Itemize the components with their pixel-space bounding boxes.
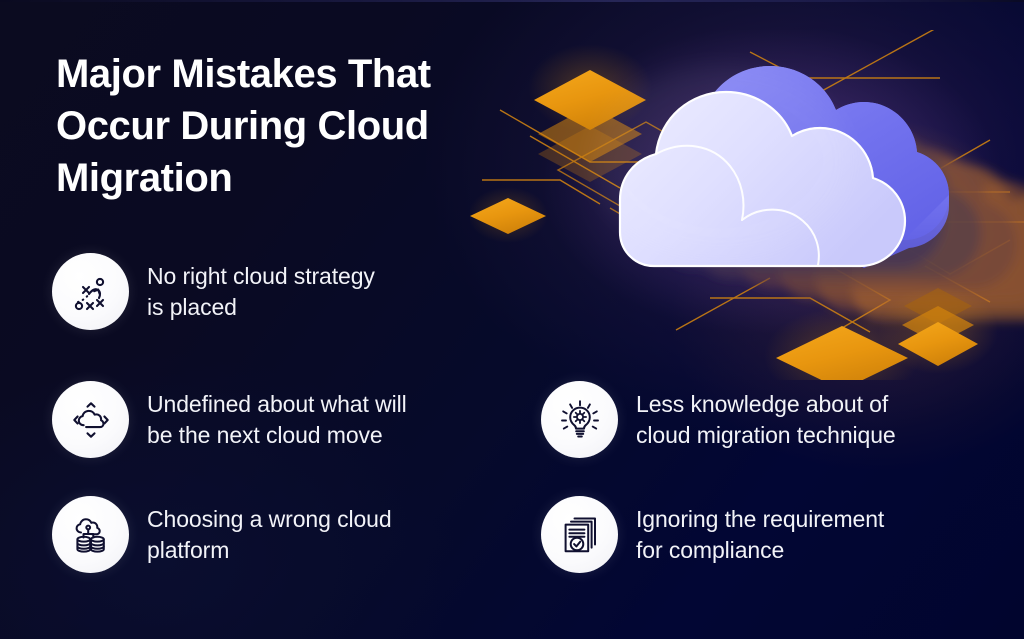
document-check-compliance-icon — [541, 496, 618, 573]
list-item-ignoring-compliance-requirement: Ignoring the requirement for compliance — [541, 496, 884, 573]
node-bottom-center — [764, 308, 920, 380]
list-item-no-right-cloud-strategy: No right cloud strategy is placed — [52, 253, 375, 330]
cloud-move-arrows-icon — [52, 381, 129, 458]
node-top-left — [528, 44, 652, 182]
page-title: Major Mistakes That Occur During Cloud M… — [56, 48, 516, 204]
strategy-playbook-icon — [52, 253, 129, 330]
page-title-line-2: Occur During Cloud — [56, 100, 516, 152]
list-item-label: Ignoring the requirement for compliance — [636, 504, 884, 566]
cloud-database-icon — [52, 496, 129, 573]
node-bottom-right — [878, 286, 998, 374]
list-item-choosing-wrong-cloud-platform: Choosing a wrong cloud platform — [52, 496, 392, 573]
infographic-canvas: Major Mistakes That Occur During Cloud M… — [0, 0, 1024, 639]
top-edge-highlight — [0, 0, 1024, 2]
list-item-label: Undefined about what will be the next cl… — [147, 389, 407, 451]
list-item-label: Choosing a wrong cloud platform — [147, 504, 392, 566]
list-item-label: Less knowledge about of cloud migration … — [636, 389, 896, 451]
page-title-line-1: Major Mistakes That — [56, 48, 516, 100]
list-item-undefined-next-cloud-move: Undefined about what will be the next cl… — [52, 381, 407, 458]
cloud-3d — [620, 66, 949, 268]
list-item-label: No right cloud strategy is placed — [147, 261, 375, 323]
page-title-line-3: Migration — [56, 152, 516, 204]
isometric-cloud-migration-illustration — [470, 30, 1024, 380]
list-item-less-knowledge-migration-technique: Less knowledge about of cloud migration … — [541, 381, 896, 458]
lightbulb-gear-icon — [541, 381, 618, 458]
